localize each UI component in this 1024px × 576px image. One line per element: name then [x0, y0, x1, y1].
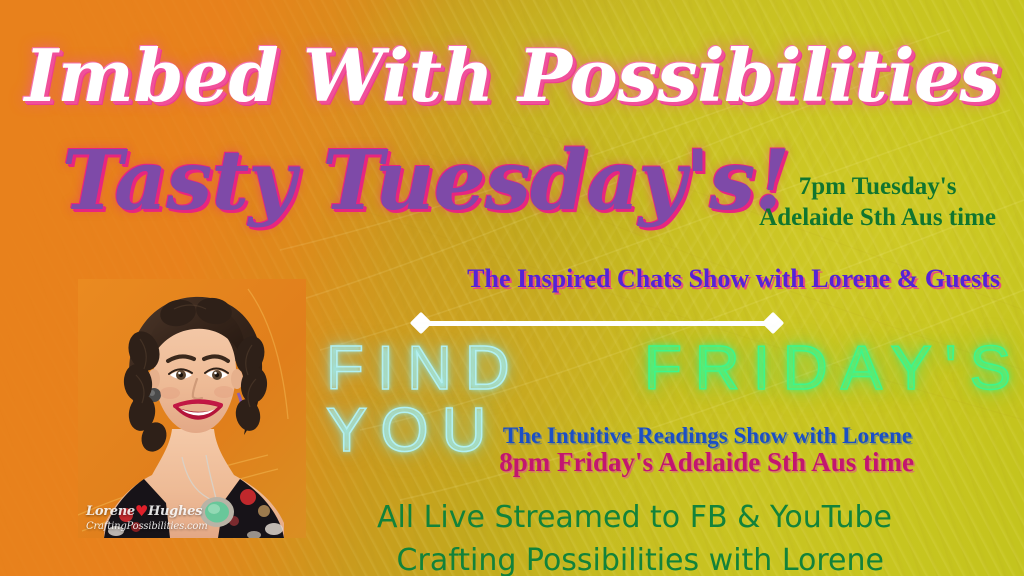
friday-show-description: The Intuitive Readings Show with Lorene [503, 424, 912, 447]
tuesday-time-line2: Adelaide Sth Aus time [759, 203, 996, 234]
divider-bar [423, 321, 771, 326]
promo-graphic: Imbed With Possibilities Tasty Tuesday's… [0, 0, 1024, 576]
show-title-tasty-tuesdays: Tasty Tuesday's! [62, 140, 789, 222]
tuesday-show-description: The Inspired Chats Show with Lorene & Gu… [467, 266, 1000, 292]
page-title: Imbed With Possibilities [0, 40, 1024, 112]
tuesday-time-block: 7pm Tuesday's Adelaide Sth Aus time [759, 172, 996, 233]
tuesday-time-line1: 7pm Tuesday's [759, 172, 996, 203]
diamond-right-icon [762, 312, 785, 335]
host-photo: Lorene ♥ Hughes CraftingPossibilities.co… [78, 279, 306, 538]
friday-time-line: 8pm Friday's Adelaide Sth Aus time [499, 449, 914, 476]
neon-text-fridays: FRIDAY'S [644, 338, 1024, 400]
brand-tagline: Crafting Possibilities with Lorene [397, 546, 884, 576]
streaming-info: All Live Streamed to FB & YouTube [377, 503, 892, 533]
host-portrait-illustration [78, 279, 306, 538]
divider [413, 313, 781, 333]
